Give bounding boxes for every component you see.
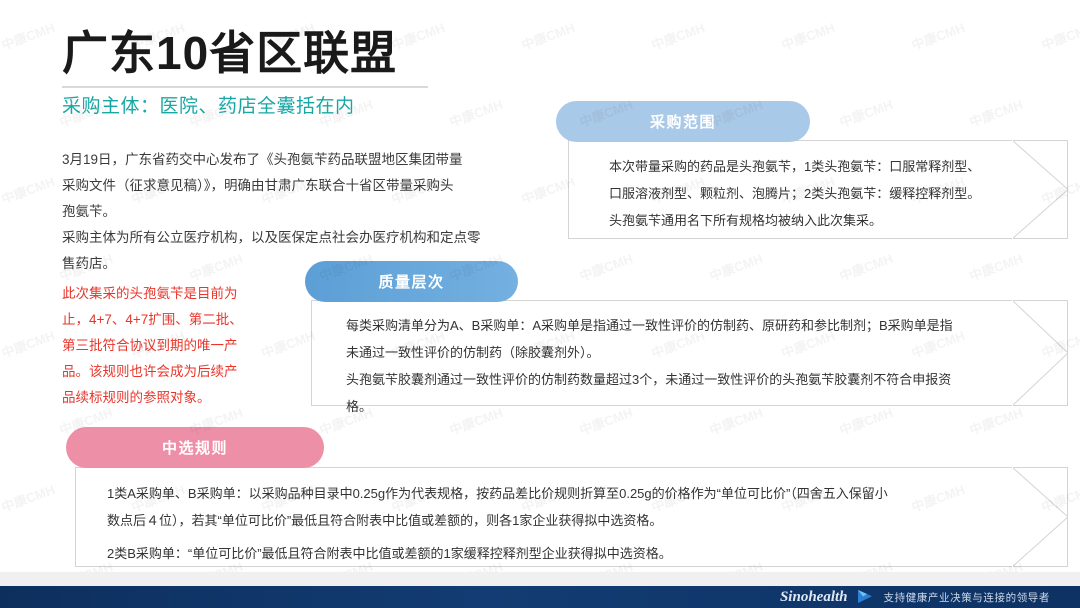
quality-line: 格。 — [346, 393, 986, 420]
rules-body-text: 1类A采购单、B采购单：以采购品种目录中0.25g作为代表规格，按药品差比价规则… — [107, 480, 995, 567]
arrow-tip-icon — [1012, 467, 1068, 567]
quality-body-text: 每类采购清单分为A、B采购单：A采购单是指通过一致性评价的仿制药、原研药和参比制… — [346, 312, 986, 420]
red-note-line: 此次集采的头孢氨苄是目前为 — [62, 281, 287, 307]
intro-line: 3月19日，广东省药交中心发布了《头孢氨苄药品联盟地区集团带量 — [62, 147, 517, 173]
intro-paragraph: 3月19日，广东省药交中心发布了《头孢氨苄药品联盟地区集团带量 采购文件（征求意… — [62, 147, 517, 277]
quality-line: 未通过一致性评价的仿制药（除胶囊剂外）。 — [346, 339, 986, 366]
rules-paragraph-2: 2类B采购单：“单位可比价”最低且符合附表中比值或差额的1家缓释控释剂型企业获得… — [107, 540, 995, 567]
page-subtitle: 采购主体：医院、药店全囊括在内 — [62, 94, 492, 120]
scope-banner-label: 采购范围 — [650, 111, 716, 132]
red-highlight-note: 此次集采的头孢氨苄是目前为 止，4+7、4+7扩围、第二批、 第三批符合协议到期… — [62, 281, 287, 411]
footer-gray-band — [0, 572, 1080, 586]
rules-line: 数点后４位），若其“单位可比价”最低且符合附表中比值或差额的，则各1家企业获得拟… — [107, 507, 995, 534]
quality-banner: 质量层次 — [305, 261, 518, 302]
red-note-line: 品。该规则也许会成为后续产 — [62, 359, 287, 385]
arrow-right-icon — [858, 590, 874, 604]
slide-canvas: 广东10省区联盟 采购主体：医院、药店全囊括在内 3月19日，广东省药交中心发布… — [0, 0, 1080, 608]
quality-line: 每类采购清单分为A、B采购单：A采购单是指通过一致性评价的仿制药、原研药和参比制… — [346, 312, 986, 339]
title-divider — [62, 86, 428, 88]
red-note-line: 第三批符合协议到期的唯一产 — [62, 333, 287, 359]
rules-content-box: 1类A采购单、B采购单：以采购品种目录中0.25g作为代表规格，按药品差比价规则… — [75, 467, 1068, 567]
quality-content-box: 每类采购清单分为A、B采购单：A采购单是指通过一致性评价的仿制药、原研药和参比制… — [311, 300, 1068, 406]
scope-line: 口服溶液剂型、颗粒剂、泡腾片；2类头孢氨苄：缓释控释剂型。 — [609, 180, 999, 207]
page-title: 广东10省区联盟 — [62, 24, 492, 82]
intro-line: 采购主体为所有公立医疗机构，以及医保定点社会办医疗机构和定点零 — [62, 225, 517, 251]
red-note-line: 品续标规则的参照对象。 — [62, 385, 287, 411]
sinohealth-logo-text: Sinohealth — [780, 589, 848, 606]
rules-banner-label: 中选规则 — [162, 437, 228, 458]
arrow-tip-icon — [1012, 140, 1068, 239]
header-block: 广东10省区联盟 采购主体：医院、药店全囊括在内 — [62, 24, 492, 120]
scope-line: 本次带量采购的药品是头孢氨苄，1类头孢氨苄：口服常释剂型、 — [609, 153, 999, 180]
scope-content-box: 本次带量采购的药品是头孢氨苄，1类头孢氨苄：口服常释剂型、 口服溶液剂型、颗粒剂… — [568, 140, 1068, 239]
rules-line: 2类B采购单：“单位可比价”最低且符合附表中比值或差额的1家缓释控释剂型企业获得… — [107, 540, 995, 567]
quality-banner-label: 质量层次 — [378, 271, 444, 292]
footer-tagline: 支持健康产业决策与连接的领导者 — [884, 590, 1051, 605]
scope-body-text: 本次带量采购的药品是头孢氨苄，1类头孢氨苄：口服常释剂型、 口服溶液剂型、颗粒剂… — [609, 153, 999, 234]
scope-banner: 采购范围 — [556, 101, 810, 142]
quality-line: 头孢氨苄胶囊剂通过一致性评价的仿制药数量超过3个，未通过一致性评价的头孢氨苄胶囊… — [346, 366, 986, 393]
intro-line: 孢氨苄。 — [62, 199, 517, 225]
intro-line: 采购文件（征求意见稿）》，明确由甘肃广东联合十省区带量采购头 — [62, 173, 517, 199]
red-note-line: 止，4+7、4+7扩围、第二批、 — [62, 307, 287, 333]
rules-paragraph-1: 1类A采购单、B采购单：以采购品种目录中0.25g作为代表规格，按药品差比价规则… — [107, 480, 995, 534]
scope-line: 头孢氨苄通用名下所有规格均被纳入此次集采。 — [609, 207, 999, 234]
arrow-tip-icon — [1012, 300, 1068, 406]
footer-brand: Sinohealth 支持健康产业决策与连接的领导者 — [780, 589, 1080, 606]
rules-banner: 中选规则 — [66, 427, 324, 468]
rules-line: 1类A采购单、B采购单：以采购品种目录中0.25g作为代表规格，按药品差比价规则… — [107, 480, 995, 507]
footer-bar: Sinohealth 支持健康产业决策与连接的领导者 — [0, 586, 1080, 608]
